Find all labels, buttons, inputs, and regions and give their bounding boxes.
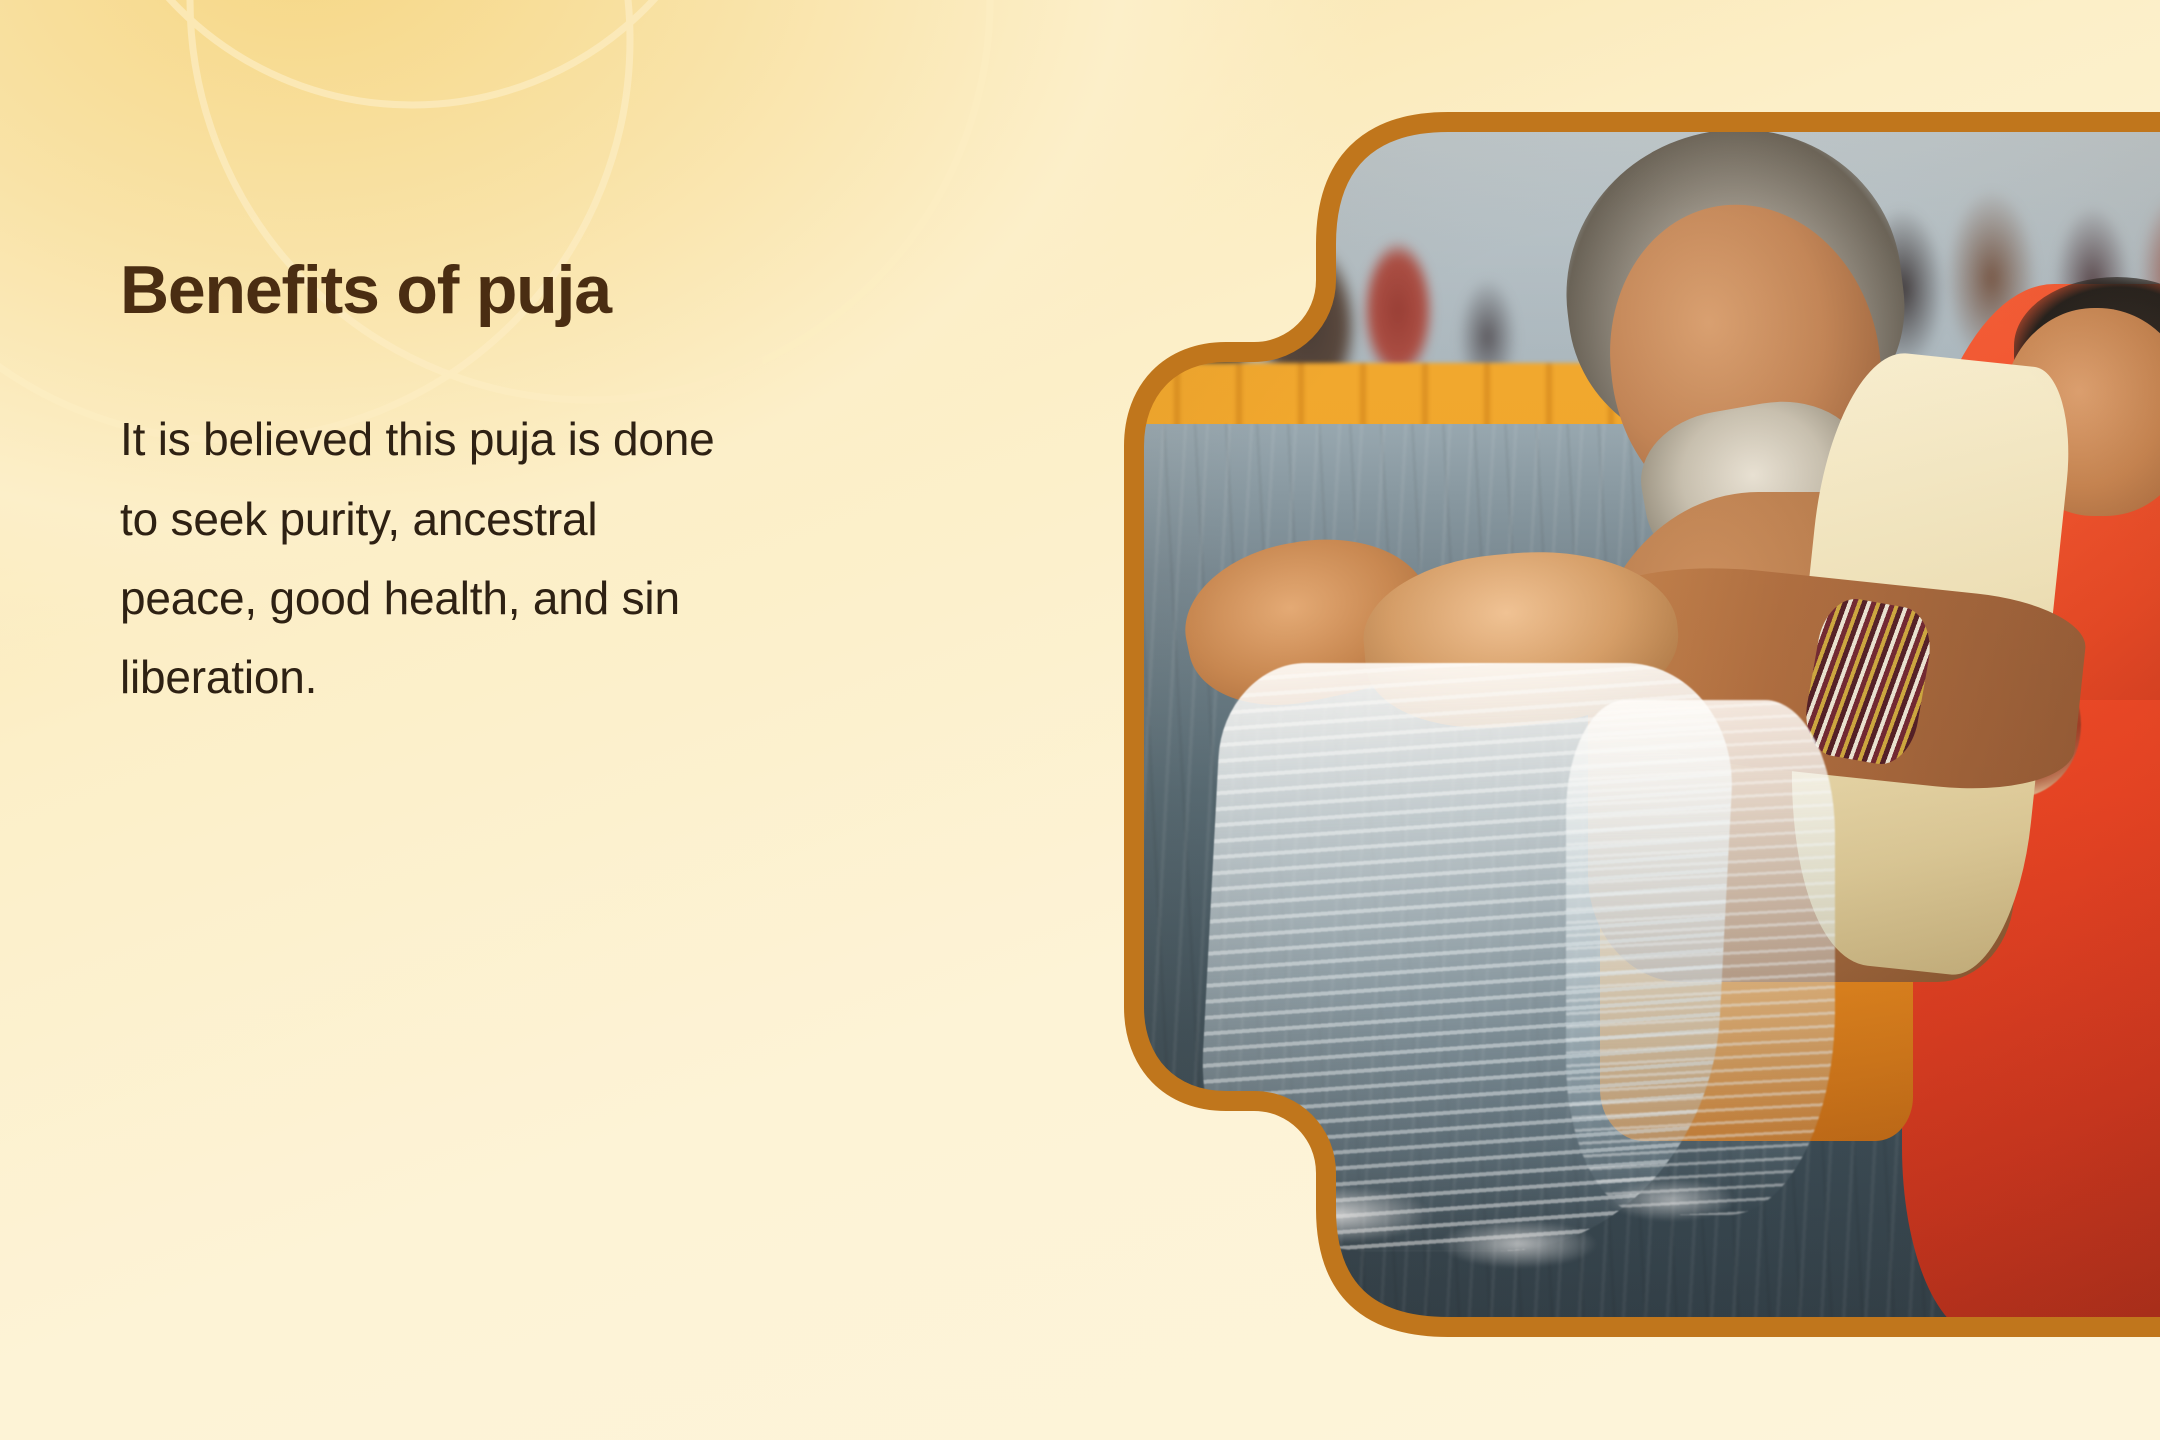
body-paragraph: It is believed this puja is done to seek… <box>120 400 740 716</box>
slide-canvas: Benefits of puja It is believed this puj… <box>0 0 2160 1440</box>
photo-frame-svg <box>1118 112 2160 1337</box>
photo-frame <box>1118 112 2160 1337</box>
photo-image <box>1118 112 2160 1337</box>
text-column: Benefits of puja It is believed this puj… <box>120 255 780 717</box>
page-title: Benefits of puja <box>120 255 780 326</box>
